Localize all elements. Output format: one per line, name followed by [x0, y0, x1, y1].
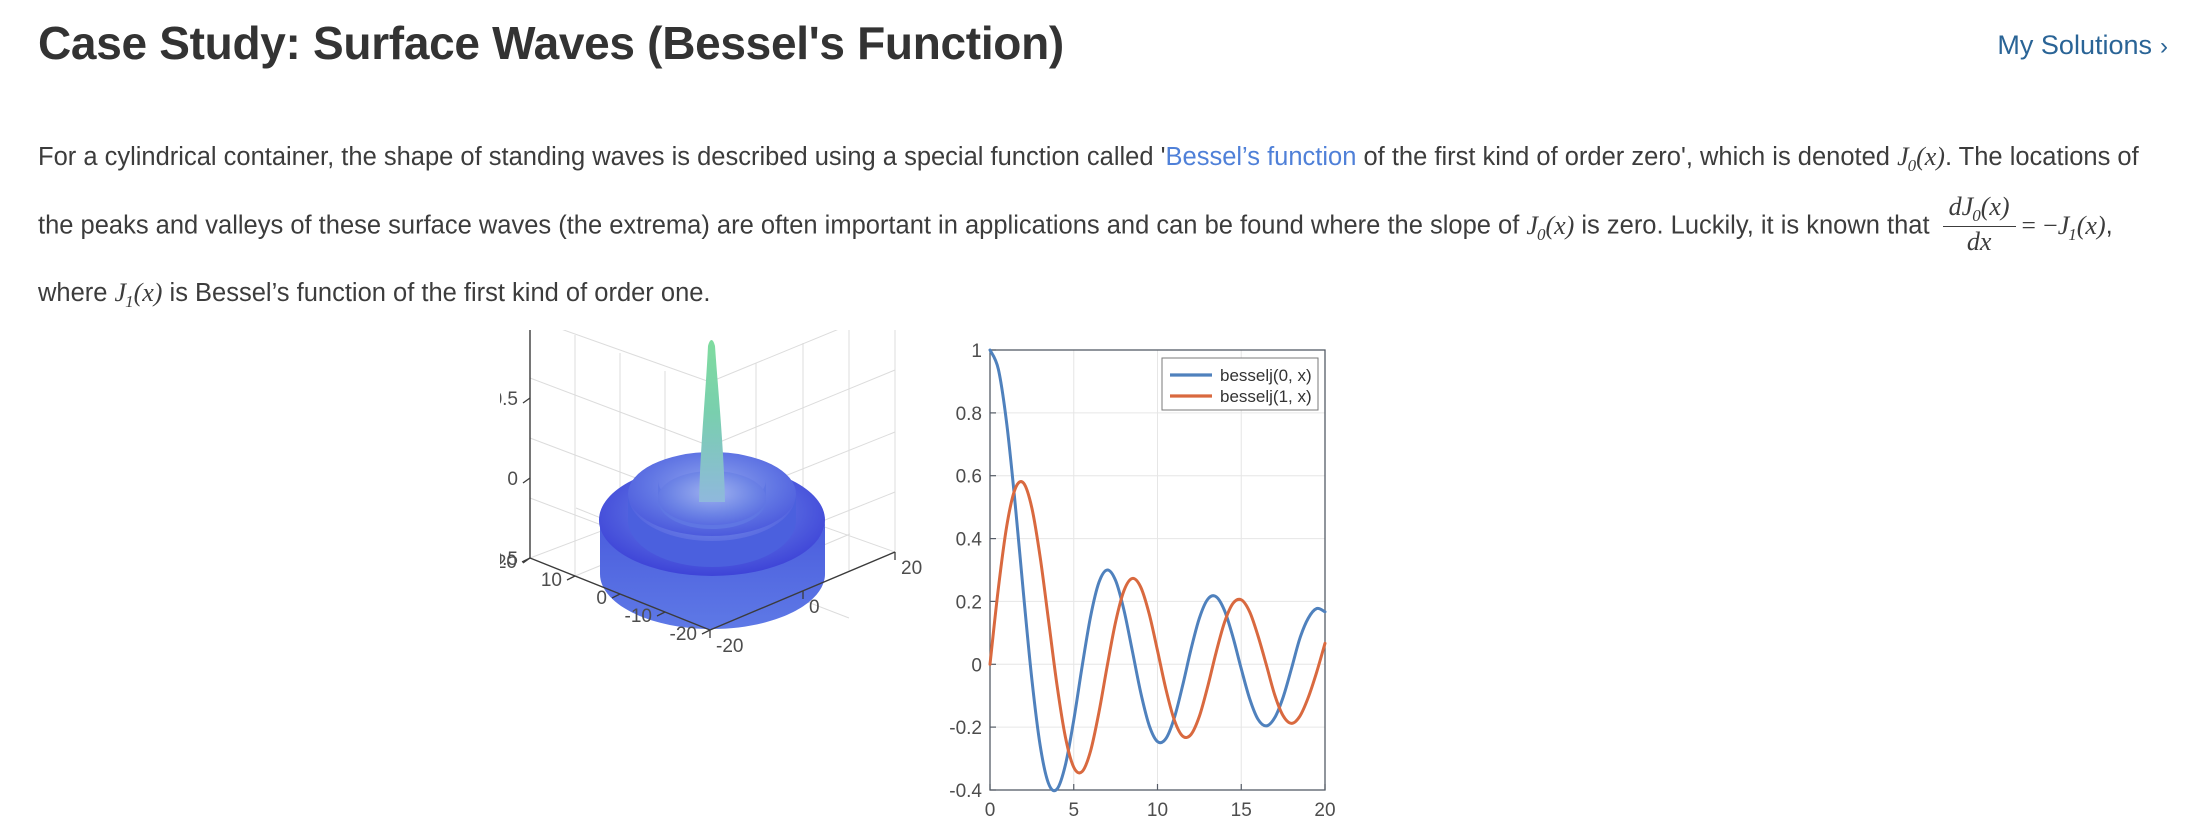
z-axis-ticks: 1 0.5 0 -0.5: [500, 330, 530, 570]
y-tick-label: -0.4: [949, 781, 982, 802]
bessel-line-plot: 1 0.8 0.6 0.4 0.2 0 -0.2 -0.4: [930, 330, 1350, 830]
math-negative-j1: −J1(x): [2043, 211, 2106, 240]
math-argument: (x): [2077, 211, 2106, 240]
math-argument: (x): [1981, 192, 2010, 221]
x-tick-label: 0: [809, 597, 820, 618]
math-argument: (x): [1545, 211, 1574, 240]
y-tick-label: -20: [670, 624, 697, 645]
y-tick-label: 0.6: [956, 467, 982, 488]
math-argument: (x): [1916, 142, 1945, 171]
bessel-surface: [599, 340, 825, 629]
x-tick-label: 0: [985, 800, 996, 821]
paragraph-text-b: of the first kind of order zero', which …: [1356, 143, 1897, 171]
math-derivative-fraction: dJ0(x)dx: [1943, 193, 2016, 257]
surface-plot-svg: 1 0.5 0 -0.5: [500, 330, 940, 820]
y-tick-label: -10: [625, 606, 652, 627]
y-tick-label: 0.4: [956, 530, 983, 551]
z-tick-label: 0: [507, 469, 518, 490]
paragraph-text-a: For a cylindrical container, the shape o…: [38, 143, 1166, 171]
math-j1-inline: J1(x): [115, 278, 163, 307]
intro-paragraph: For a cylindrical container, the shape o…: [38, 128, 2148, 331]
x-tick-label: 10: [1147, 800, 1168, 821]
math-j0-inline-2: J0(x): [1526, 211, 1574, 240]
x-tick-label: -20: [716, 636, 743, 657]
x-tick-label: 5: [1068, 800, 1079, 821]
paragraph-text-f: is Bessel’s function of the first kind o…: [162, 279, 710, 307]
y-tick-label: 20: [500, 552, 517, 573]
x-tick-label: 15: [1231, 800, 1252, 821]
legend-label-besselj0: besselj(0, x): [1220, 366, 1312, 385]
surface-center-peak: [699, 340, 725, 502]
math-j-subscript: 1: [2068, 225, 2077, 244]
plot-gridlines: [990, 350, 1325, 790]
paragraph-text-d: is zero. Luckily, it is known that: [1574, 212, 1936, 240]
bessel-function-link[interactable]: Bessel’s function: [1166, 143, 1357, 171]
surface-plot-3d: 1 0.5 0 -0.5: [500, 330, 940, 820]
figures-row: 1 0.5 0 -0.5: [0, 330, 2196, 830]
y-tick-label: 0: [971, 655, 982, 676]
math-minus-sign: −: [2043, 211, 2058, 240]
x-tick-label: 20: [901, 558, 922, 579]
math-equals-sign: =: [2022, 211, 2036, 240]
page-title: Case Study: Surface Waves (Bessel's Func…: [38, 16, 1064, 70]
math-j0-inline-1: J0(x): [1897, 142, 1945, 171]
y-axis-ticks-2d: 1 0.8 0.6 0.4 0.2 0 -0.2 -0.4: [949, 341, 996, 802]
chevron-right-icon: ›: [2160, 33, 2168, 61]
my-solutions-link[interactable]: My Solutions›: [1997, 30, 2168, 61]
fraction-numerator: dJ0(x): [1943, 193, 2016, 226]
math-j-symbol: J: [1897, 142, 1909, 171]
y-tick-label: -0.2: [949, 718, 982, 739]
math-j-subscript: 0: [1908, 156, 1917, 175]
y-tick-label: 0: [596, 588, 607, 609]
my-solutions-label: My Solutions: [1997, 30, 2152, 60]
y-tick-label: 1: [971, 341, 982, 362]
x-tick-label: 20: [1314, 800, 1335, 821]
legend-label-besselj1: besselj(1, x): [1220, 387, 1312, 406]
fraction-denominator: dx: [1943, 226, 2016, 257]
case-study-page: Case Study: Surface Waves (Bessel's Func…: [0, 0, 2196, 836]
plot-legend: besselj(0, x) besselj(1, x): [1162, 358, 1318, 410]
z-tick-label: 0.5: [500, 389, 518, 410]
y-tick-label: 0.2: [956, 592, 982, 613]
math-argument: (x): [134, 278, 163, 307]
math-j-subscript: 0: [1972, 206, 1981, 225]
math-d-symbol: d: [1949, 192, 1962, 221]
page-header: Case Study: Surface Waves (Bessel's Func…: [0, 0, 2196, 92]
math-j-subscript: 1: [125, 292, 134, 311]
y-tick-label: 10: [541, 570, 562, 591]
y-tick-label: 0.8: [956, 404, 982, 425]
line-plot-svg: 1 0.8 0.6 0.4 0.2 0 -0.2 -0.4: [930, 330, 1350, 830]
